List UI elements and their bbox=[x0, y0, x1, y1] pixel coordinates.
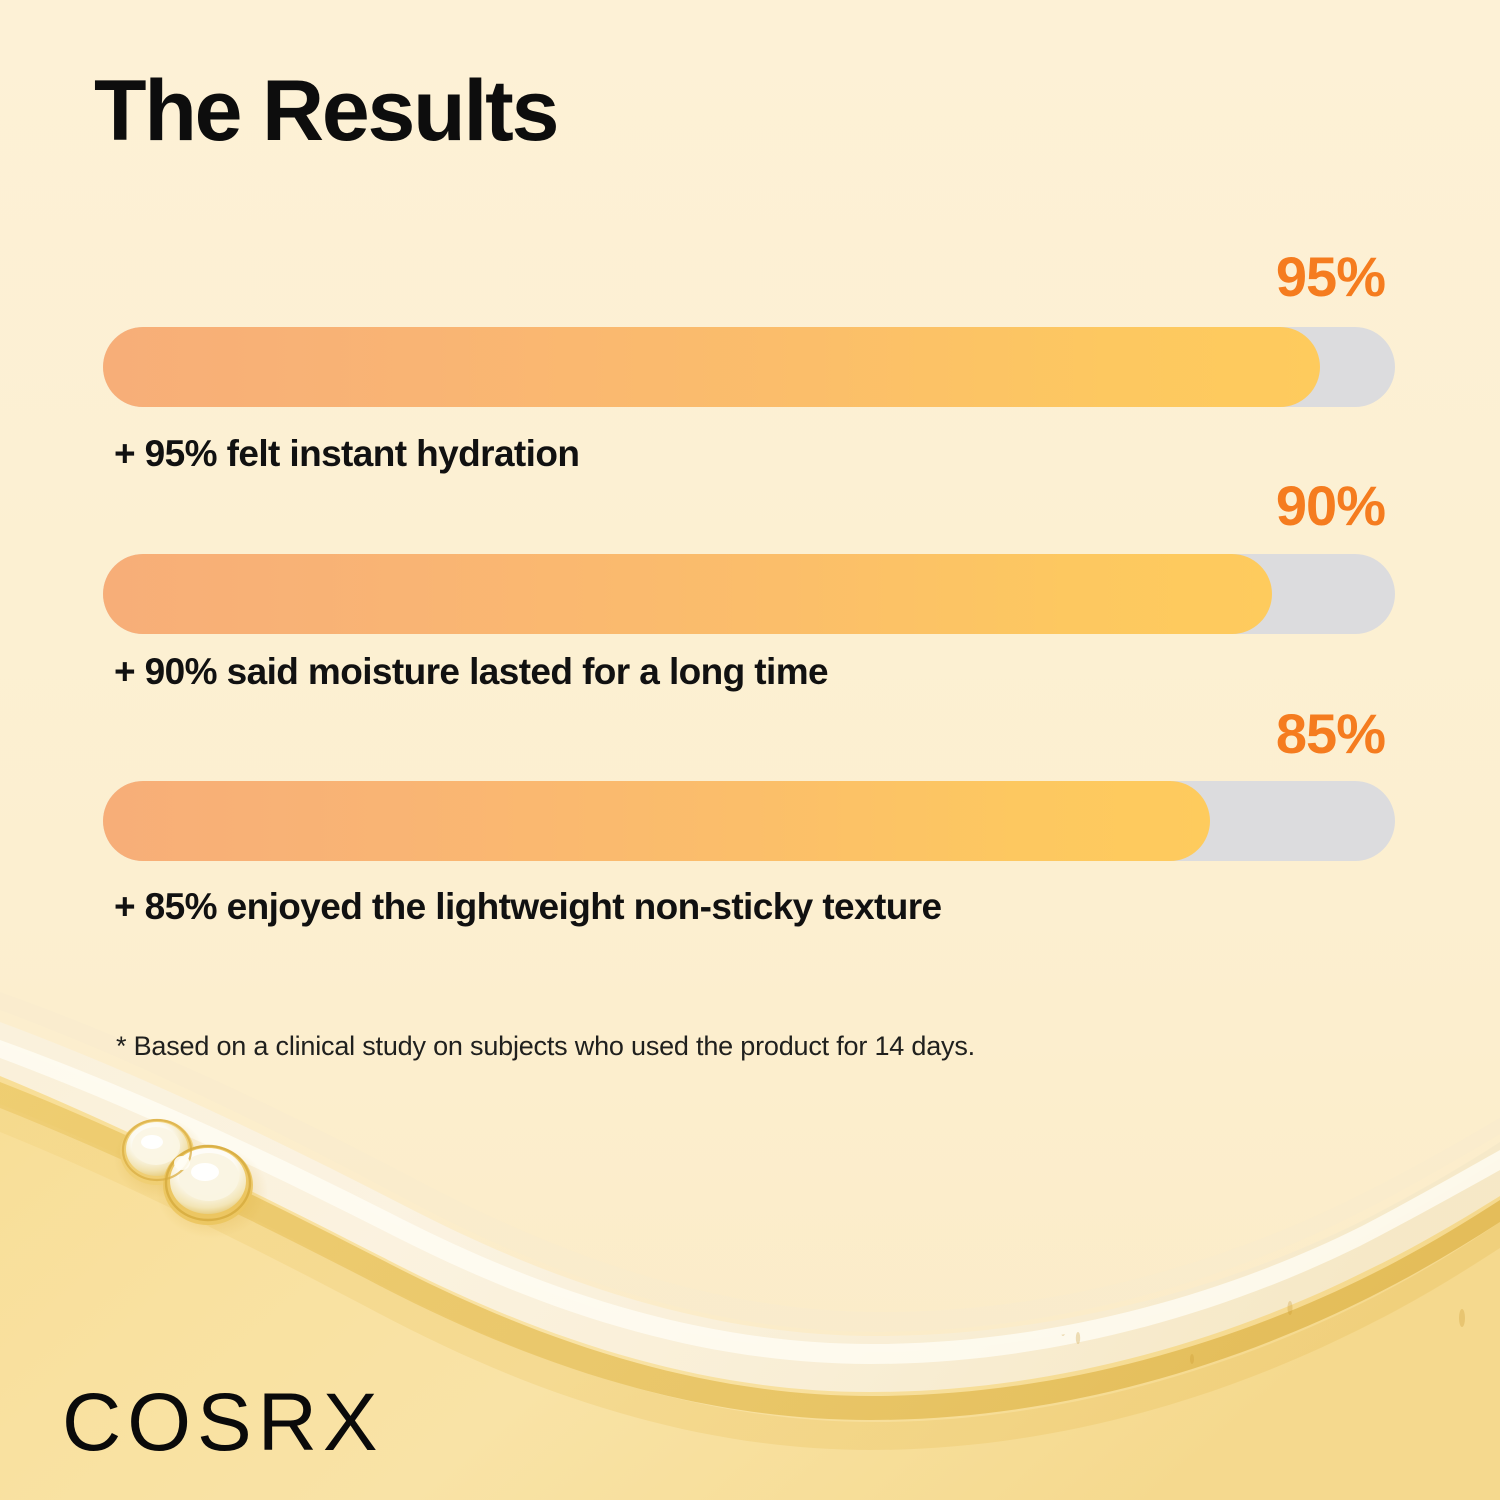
percent-label-1: 95% bbox=[1276, 249, 1385, 305]
progress-fill-3 bbox=[103, 781, 1210, 861]
content-layer: The Results 95% + 95% felt instant hydra… bbox=[0, 0, 1500, 1500]
page-title: The Results bbox=[94, 68, 557, 154]
infographic-canvas: The Results 95% + 95% felt instant hydra… bbox=[0, 0, 1500, 1500]
percent-label-3: 85% bbox=[1276, 706, 1385, 762]
result-caption-3: + 85% enjoyed the lightweight non-sticky… bbox=[114, 888, 942, 925]
progress-track-3 bbox=[103, 781, 1395, 861]
progress-fill-1 bbox=[103, 327, 1320, 407]
progress-fill-2 bbox=[103, 554, 1272, 634]
result-caption-1: + 95% felt instant hydration bbox=[114, 435, 579, 472]
percent-label-2: 90% bbox=[1276, 478, 1385, 534]
result-caption-2: + 90% said moisture lasted for a long ti… bbox=[114, 653, 828, 690]
progress-track-2 bbox=[103, 554, 1395, 634]
cosrx-logo: COSRX bbox=[62, 1382, 384, 1464]
footnote-text: * Based on a clinical study on subjects … bbox=[116, 1030, 975, 1062]
progress-track-1 bbox=[103, 327, 1395, 407]
